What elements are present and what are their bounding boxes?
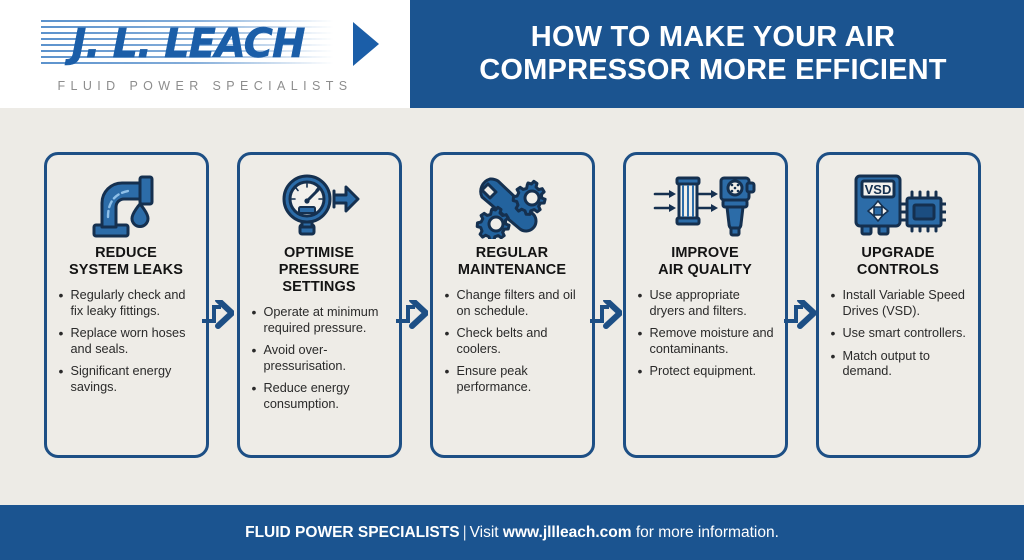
- step-title-line-2: AIR QUALITY: [658, 262, 752, 279]
- list-item: Regularly check and fix leaky fittings.: [59, 288, 196, 319]
- step-title-line-1: IMPROVE: [658, 245, 752, 262]
- list-item: Change filters and oil on schedule.: [445, 288, 582, 319]
- list-item: Reduce energy consumption.: [252, 381, 389, 412]
- header-title-container: HOW TO MAKE YOUR AIR COMPRESSOR MORE EFF…: [410, 0, 1024, 108]
- step-title-line-1: UPGRADE: [857, 245, 939, 262]
- logo-tagline: FLUID POWER SPECIALISTS: [57, 79, 352, 93]
- list-item: Operate at minimum required pressure.: [252, 305, 389, 336]
- footer-website-link[interactable]: www.jllleach.com: [503, 524, 632, 541]
- infographic-root: J. L. LEACH FLUID POWER SPECIALISTS HOW …: [0, 0, 1024, 560]
- company-logo: J. L. LEACH FLUID POWER SPECIALISTS: [0, 0, 410, 108]
- step-title-line-2: SYSTEM LEAKS: [69, 262, 183, 279]
- list-item: Match output to demand.: [831, 349, 968, 380]
- step-card-title: IMPROVE AIR QUALITY: [658, 245, 752, 279]
- step-card-optimise-pressure-settings[interactable]: OPTIMISE PRESSURE SETTINGS Operate at mi…: [237, 152, 402, 458]
- step-card-title: OPTIMISE PRESSURE SETTINGS: [279, 245, 360, 296]
- pressure-gauge-icon: [250, 169, 389, 243]
- page-title-line-1: HOW TO MAKE YOUR AIR: [479, 21, 946, 54]
- chevron-right-arrow-icon: [784, 300, 816, 330]
- step-title-line-2: CONTROLS: [857, 262, 939, 279]
- step-title-line-2: MAINTENANCE: [458, 262, 566, 279]
- step-card-title: REDUCE SYSTEM LEAKS: [69, 245, 183, 279]
- step-bullet-list: Use appropriate dryers and filters. Remo…: [636, 288, 775, 386]
- footer-bar: FLUID POWER SPECIALISTS|Visit www.jlllea…: [0, 505, 1024, 560]
- list-item: Avoid over-pressurisation.: [252, 343, 389, 374]
- list-item: Use smart controllers.: [831, 326, 968, 341]
- footer-text: FLUID POWER SPECIALISTS|Visit www.jlllea…: [245, 524, 779, 542]
- header-bar: J. L. LEACH FLUID POWER SPECIALISTS HOW …: [0, 0, 1024, 108]
- page-title-line-2: COMPRESSOR MORE EFFICIENT: [479, 54, 946, 87]
- step-card-title: REGULAR MAINTENANCE: [458, 245, 566, 279]
- step-title-line-2: PRESSURE: [279, 262, 360, 279]
- vsd-screen-label: VSD: [865, 182, 892, 197]
- list-item: Install Variable Speed Drives (VSD).: [831, 288, 968, 319]
- list-item: Use appropriate dryers and filters.: [638, 288, 775, 319]
- vsd-controller-chip-icon: VSD: [829, 169, 968, 243]
- list-item: Significant energy savings.: [59, 364, 196, 395]
- step-bullet-list: Operate at minimum required pressure. Av…: [250, 305, 389, 419]
- logo-arrow-icon: [353, 22, 379, 66]
- step-title-line-1: REDUCE: [69, 245, 183, 262]
- step-title-line-3: SETTINGS: [279, 279, 360, 296]
- step-bullet-list: Change filters and oil on schedule. Chec…: [443, 288, 582, 402]
- footer-lead: FLUID POWER SPECIALISTS: [245, 524, 459, 541]
- step-card-regular-maintenance[interactable]: REGULAR MAINTENANCE Change filters and o…: [430, 152, 595, 458]
- list-item: Replace worn hoses and seals.: [59, 326, 196, 357]
- chevron-right-arrow-icon: [590, 300, 622, 330]
- chevron-right-arrow-icon: [396, 300, 428, 330]
- footer-tail: for more information.: [636, 524, 779, 541]
- logo-text: J. L. LEACH: [72, 21, 339, 67]
- step-bullet-list: Regularly check and fix leaky fittings. …: [57, 288, 196, 402]
- step-card-upgrade-controls[interactable]: VSD: [816, 152, 981, 458]
- chevron-right-arrow-icon: [202, 300, 234, 330]
- wrench-gears-icon: [443, 169, 582, 243]
- list-item: Check belts and coolers.: [445, 326, 582, 357]
- list-item: Remove moisture and contaminants.: [638, 326, 775, 357]
- step-card-reduce-system-leaks[interactable]: REDUCE SYSTEM LEAKS Regularly check and …: [44, 152, 209, 458]
- step-bullet-list: Install Variable Speed Drives (VSD). Use…: [829, 288, 968, 386]
- step-card-improve-air-quality[interactable]: IMPROVE AIR QUALITY Use appropriate drye…: [623, 152, 788, 458]
- logo-wordmark: J. L. LEACH: [25, 16, 385, 72]
- step-title-line-1: OPTIMISE: [279, 245, 360, 262]
- footer-visit-label: Visit: [470, 524, 499, 541]
- step-title-line-1: REGULAR: [458, 245, 566, 262]
- step-card-title: UPGRADE CONTROLS: [857, 245, 939, 279]
- air-filter-dryer-icon: [636, 169, 775, 243]
- page-title: HOW TO MAKE YOUR AIR COMPRESSOR MORE EFF…: [479, 21, 946, 87]
- list-item: Ensure peak performance.: [445, 364, 582, 395]
- list-item: Protect equipment.: [638, 364, 775, 379]
- pipe-leak-icon: [57, 169, 196, 243]
- footer-separator: |: [460, 524, 470, 541]
- steps-row: REDUCE SYSTEM LEAKS Regularly check and …: [0, 152, 1024, 458]
